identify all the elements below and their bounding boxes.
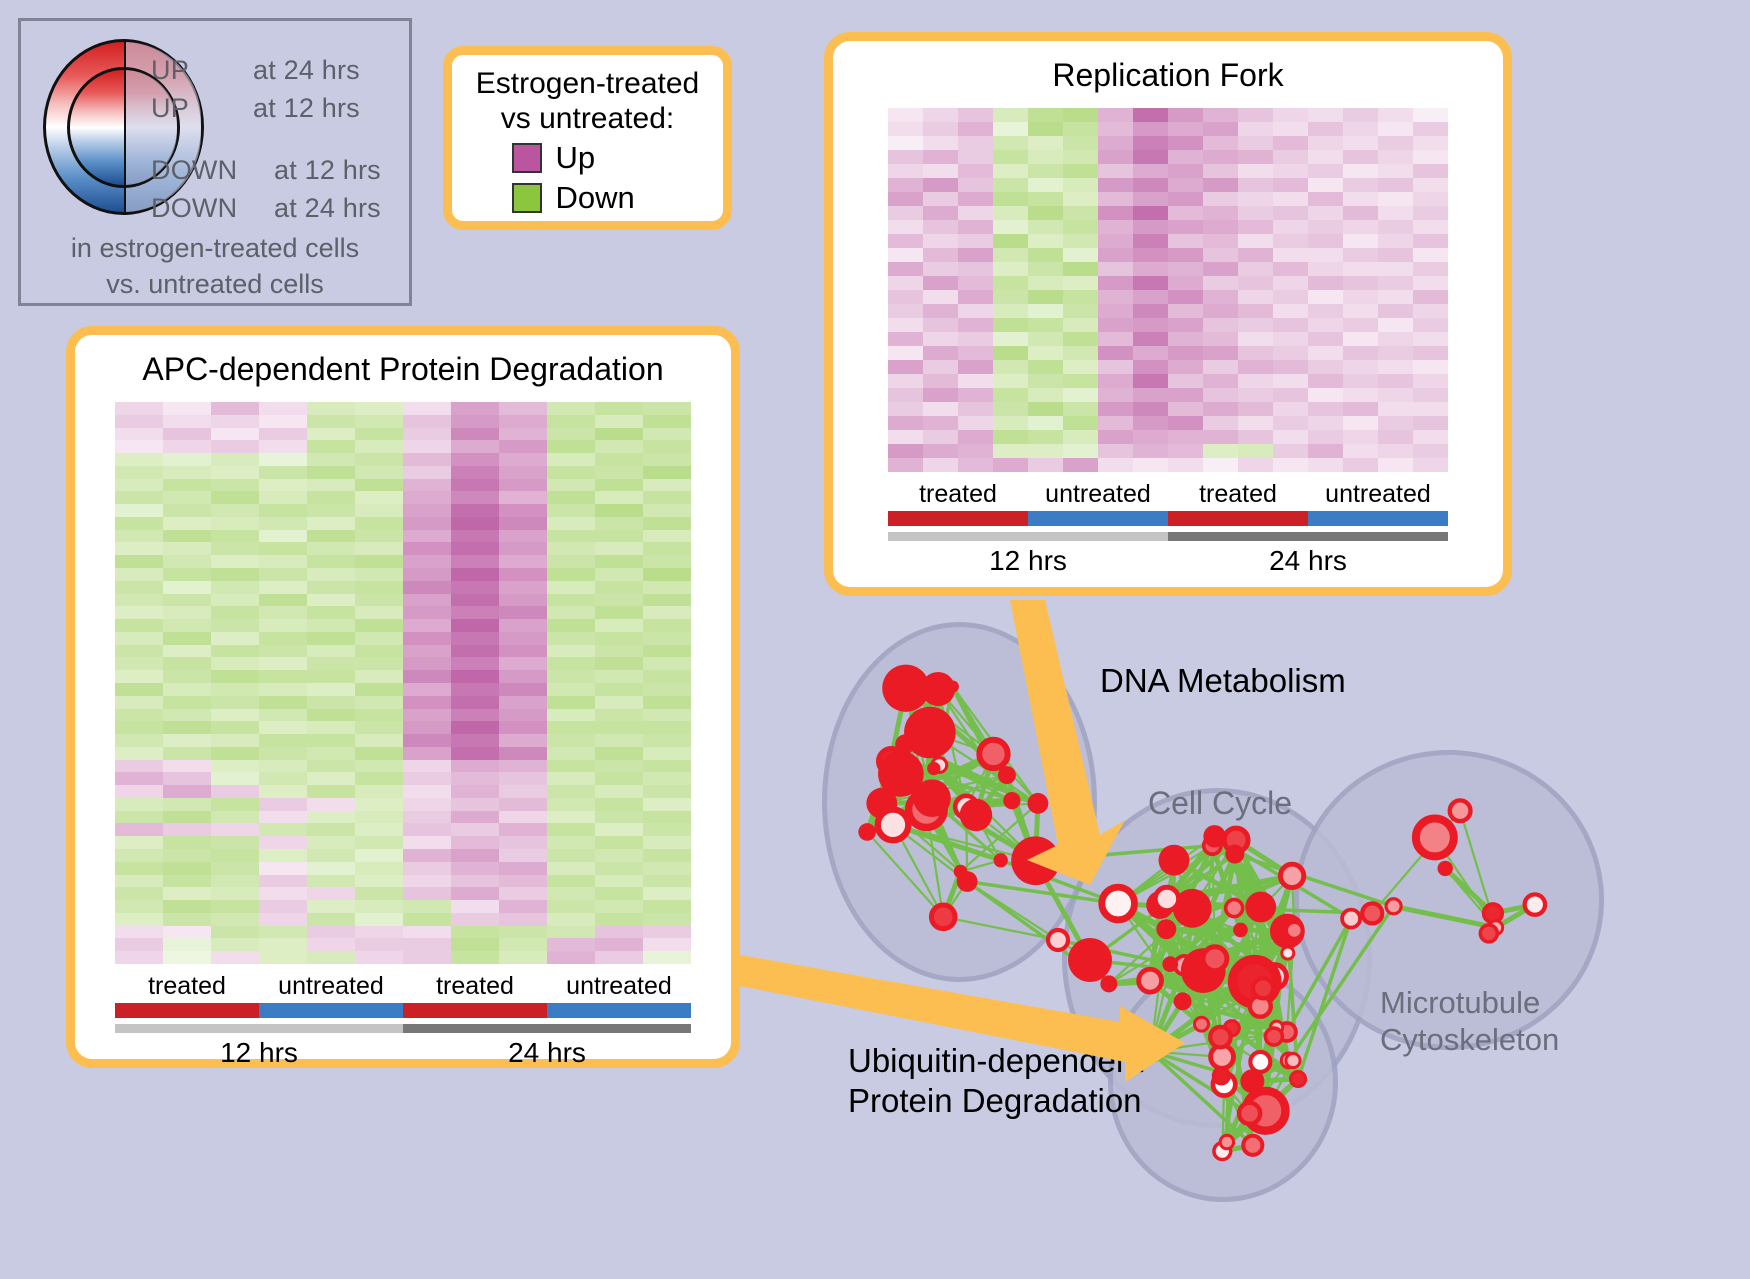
heatmap-cell [403, 594, 451, 607]
heatmap-cell [451, 517, 499, 530]
time-bar-segment [115, 1024, 403, 1033]
time-labels-replication-fork: 12 hrs24 hrs [888, 541, 1448, 577]
heatmap-cell [1133, 220, 1168, 234]
heatmap-cell [888, 332, 923, 346]
network-node[interactable] [954, 865, 968, 879]
heatmap-cell [307, 402, 355, 415]
heatmap-cell [547, 670, 595, 683]
heatmap-cell [163, 709, 211, 722]
heatmap-cell [1273, 318, 1308, 332]
heatmap-cell [307, 491, 355, 504]
network-node[interactable] [1162, 956, 1178, 972]
heatmap-cell [355, 875, 403, 888]
heatmap-cell [355, 619, 403, 632]
heatmap-cell [958, 276, 993, 290]
heatmap-cell [163, 926, 211, 939]
heatmap-cell [403, 555, 451, 568]
heatmap-cell [115, 772, 163, 785]
heatmap-cell [993, 248, 1028, 262]
heatmap-cell [888, 248, 923, 262]
heatmap-cell [547, 415, 595, 428]
heatmap-cell [547, 798, 595, 811]
heatmap-cell [1273, 458, 1308, 472]
network-node[interactable] [1282, 947, 1294, 959]
network-node[interactable] [1437, 861, 1452, 876]
network-node[interactable] [1362, 903, 1382, 923]
heatmap-cell [1413, 248, 1448, 262]
network-graph-svg [790, 600, 1750, 1279]
heatmap-cell [115, 581, 163, 594]
heatmap-cell [307, 938, 355, 951]
network-node[interactable] [1416, 818, 1454, 856]
heatmap-cell [1063, 248, 1098, 262]
heatmap-cell [1308, 276, 1343, 290]
heatmap-cell [1308, 430, 1343, 444]
heatmap-cell [958, 234, 993, 248]
heatmap-cell [1028, 234, 1063, 248]
heatmap-cell [595, 926, 643, 939]
heatmap-cell [1378, 318, 1413, 332]
heatmap-cell [451, 632, 499, 645]
network-node[interactable] [1243, 1136, 1262, 1155]
heatmap-cell [888, 374, 923, 388]
heatmap-cell [1063, 178, 1098, 192]
network-node[interactable] [1213, 1068, 1229, 1084]
heatmap-cell [451, 606, 499, 619]
heatmap-cell [451, 785, 499, 798]
heatmap-cell [259, 415, 307, 428]
heatmap-cell [403, 619, 451, 632]
heatmap-cell [403, 913, 451, 926]
network-node[interactable] [1139, 969, 1162, 992]
treatment-bar-segment [403, 1003, 547, 1018]
heatmap-cell [403, 887, 451, 900]
heatmap-cell [259, 581, 307, 594]
heatmap-cell [547, 555, 595, 568]
heatmap-cell [1238, 318, 1273, 332]
heatmap-cell [403, 428, 451, 441]
heatmap-cell [1273, 416, 1308, 430]
network-node[interactable] [895, 734, 915, 754]
heatmap-cell [923, 458, 958, 472]
time-labels-apc: 12 hrs24 hrs [115, 1033, 691, 1069]
heatmap-cell [1063, 304, 1098, 318]
heatmap-cell [355, 760, 403, 773]
heatmap-cell [547, 696, 595, 709]
heatmap-cell [211, 530, 259, 543]
heatmap-cell [451, 440, 499, 453]
heatmap-cell [499, 760, 547, 773]
column-group-label: treated [403, 972, 547, 1001]
heatmap-cell [211, 619, 259, 632]
network-node[interactable] [1048, 930, 1068, 950]
heatmap-cell [1238, 150, 1273, 164]
heatmap-cell [1168, 360, 1203, 374]
heatmap-cell [499, 875, 547, 888]
heatmap-cell [923, 150, 958, 164]
network-node[interactable] [1450, 800, 1471, 821]
heatmap-cell [1098, 136, 1133, 150]
heatmap-cell [1413, 164, 1448, 178]
network-node[interactable] [1291, 1072, 1306, 1087]
heatmap-cell [1378, 388, 1413, 402]
heatmap-cell [1308, 458, 1343, 472]
heatmap-cell [1063, 388, 1098, 402]
heatmap-cell [643, 760, 691, 773]
heatmap-cell [643, 772, 691, 785]
network-node[interactable] [1250, 1052, 1270, 1072]
network-node[interactable] [1280, 864, 1303, 887]
heatmap-cell [1028, 304, 1063, 318]
heatmap-cell [403, 568, 451, 581]
network-node[interactable] [1100, 975, 1117, 992]
heatmap-cell [595, 721, 643, 734]
heatmap-cell [958, 220, 993, 234]
heatmap-cell [163, 747, 211, 760]
heatmap-cell [499, 811, 547, 824]
heatmap-cell [259, 594, 307, 607]
heatmap-cell [1343, 164, 1378, 178]
network-node[interactable] [1484, 904, 1502, 922]
heatmap-cell [211, 913, 259, 926]
heatmap-cell [211, 632, 259, 645]
heatmap-cell [643, 785, 691, 798]
network-node[interactable] [1174, 992, 1192, 1010]
heatmap-cell [211, 683, 259, 696]
heatmap-cell [307, 709, 355, 722]
panel-apc-degradation: APC-dependent Protein Degradation treate… [66, 326, 740, 1068]
heatmap-cell [993, 402, 1028, 416]
heatmap-cell [1028, 388, 1063, 402]
heatmap-cell [958, 318, 993, 332]
heatmap-cell [259, 760, 307, 773]
heatmap-cell [211, 900, 259, 913]
heatmap-cell [1413, 416, 1448, 430]
heatmap-cell [595, 555, 643, 568]
heatmap-cell [259, 747, 307, 760]
heatmap-cell [451, 530, 499, 543]
network-node[interactable] [1233, 923, 1248, 938]
heatmap-cell [888, 360, 923, 374]
heatmap-cell [595, 849, 643, 862]
heatmap-cell [499, 926, 547, 939]
heatmap-cell [595, 836, 643, 849]
network-node[interactable] [1102, 887, 1135, 920]
heatmap-cell [1203, 220, 1238, 234]
heatmap-cell [355, 734, 403, 747]
heatmap-cell [1378, 108, 1413, 122]
network-node[interactable] [921, 672, 955, 706]
heatmap-cell [451, 823, 499, 836]
heatmap-cell [355, 696, 403, 709]
heatmap-cell [1413, 346, 1448, 360]
heatmap-cell [643, 696, 691, 709]
heatmap-cell [643, 530, 691, 543]
heatmap-cell [1063, 290, 1098, 304]
heatmap-cell [643, 428, 691, 441]
heatmap-cell [403, 747, 451, 760]
network-node[interactable] [1286, 1054, 1300, 1068]
heatmap-cell [259, 836, 307, 849]
heatmap-cell [1238, 430, 1273, 444]
column-group-label: untreated [547, 972, 691, 1001]
heatmap-cell [923, 346, 958, 360]
heatmap-cell [1168, 402, 1203, 416]
heatmap-cell [163, 760, 211, 773]
heatmap-cell [163, 951, 211, 964]
heatmap-cell [1203, 444, 1238, 458]
heatmap-cell [163, 440, 211, 453]
network-node[interactable] [1265, 1028, 1282, 1045]
heatmap-cell [547, 772, 595, 785]
network-node[interactable] [1480, 925, 1497, 942]
heatmap-cell [1343, 318, 1378, 332]
heatmap-cell [211, 606, 259, 619]
heatmap-cell [1238, 164, 1273, 178]
heatmap-cell [1028, 346, 1063, 360]
heatmap-cell [355, 594, 403, 607]
network-node[interactable] [1220, 1135, 1233, 1148]
network-node[interactable] [1239, 1103, 1260, 1124]
heatmap-cell [1413, 444, 1448, 458]
heatmap-cell [1378, 122, 1413, 136]
heatmap-cell [595, 415, 643, 428]
heatmap-cell [355, 887, 403, 900]
heatmap-cell [451, 862, 499, 875]
time-label: 24 hrs [403, 1033, 691, 1069]
heatmap-cell [1203, 122, 1238, 136]
heatmap-cell [1203, 234, 1238, 248]
heatmap-cell [403, 491, 451, 504]
heatmap-cell [307, 696, 355, 709]
heatmap-cell [451, 836, 499, 849]
heatmap-cell [499, 798, 547, 811]
heatmap-cell [643, 938, 691, 951]
network-node[interactable] [1210, 1027, 1230, 1047]
heatmap-cell [259, 491, 307, 504]
heatmap-cell [115, 517, 163, 530]
heatmap-cell [1063, 206, 1098, 220]
heatmap-cell [643, 900, 691, 913]
panel-replication-fork: Replication Fork treateduntreatedtreated… [824, 32, 1512, 596]
heatmap-cell [1378, 248, 1413, 262]
network-node[interactable] [1226, 900, 1243, 917]
heatmap-cell [1168, 304, 1203, 318]
heatmap-cell [355, 453, 403, 466]
heatmap-cell [307, 619, 355, 632]
heatmap-cell [923, 374, 958, 388]
heatmap-cell [1133, 234, 1168, 248]
heatmap-cell [958, 304, 993, 318]
heatmap-cell [355, 402, 403, 415]
heatmap-cell [1098, 360, 1133, 374]
network-node[interactable] [1253, 978, 1273, 998]
heatmap-cell [595, 875, 643, 888]
heatmap-cell [1238, 276, 1273, 290]
network-node[interactable] [960, 799, 993, 832]
heatmap-cell [211, 734, 259, 747]
heatmap-cell [993, 164, 1028, 178]
heatmap-cell [1098, 276, 1133, 290]
heatmap-cell [115, 734, 163, 747]
heatmap-cell [499, 747, 547, 760]
network-node[interactable] [1141, 1042, 1160, 1061]
heatmap-cell [595, 619, 643, 632]
heatmap-cell [1343, 416, 1378, 430]
heatmap-cell [1133, 430, 1168, 444]
heatmap-cell [993, 122, 1028, 136]
heatmap-cell [259, 517, 307, 530]
network-node[interactable] [1245, 892, 1276, 923]
heatmap-cell [451, 798, 499, 811]
heatmap-cell [211, 504, 259, 517]
heatmap-cell [643, 747, 691, 760]
network-node[interactable] [1225, 845, 1244, 864]
heatmap-cell [259, 849, 307, 862]
network-node[interactable] [1156, 919, 1176, 939]
heatmap-cell [888, 416, 923, 430]
heatmap-cell [643, 581, 691, 594]
network-node[interactable] [1525, 894, 1545, 914]
heatmap-cell [451, 466, 499, 479]
heatmap-cell [1343, 388, 1378, 402]
heatmap-cell [307, 760, 355, 773]
heatmap-cell [355, 951, 403, 964]
heatmap-cell [595, 504, 643, 517]
heatmap-cell [993, 108, 1028, 122]
heatmap-cell [499, 900, 547, 913]
heatmap-cell [1238, 178, 1273, 192]
heatmap-cell [259, 875, 307, 888]
heatmap-cell [1273, 206, 1308, 220]
network-node[interactable] [1195, 1017, 1209, 1031]
heatmap-cell [115, 798, 163, 811]
legend-item-up: Up [452, 140, 723, 176]
heatmap-cell [1343, 374, 1378, 388]
heatmap-cell [451, 951, 499, 964]
network-node[interactable] [1027, 793, 1048, 814]
network-node[interactable] [858, 823, 876, 841]
heatmap-cell [403, 581, 451, 594]
network-node[interactable] [1203, 825, 1225, 847]
heatmap-cell [451, 657, 499, 670]
heatmap-cell [211, 491, 259, 504]
network-node[interactable] [878, 810, 909, 841]
heatmap-cell [595, 453, 643, 466]
heatmap-cell [993, 318, 1028, 332]
heatmap-cell [451, 491, 499, 504]
heatmap-cell [1063, 122, 1098, 136]
heatmap-cell [595, 440, 643, 453]
treatment-bar-segment [1168, 511, 1308, 526]
heatmap-cell [1308, 164, 1343, 178]
heatmap-cell [259, 785, 307, 798]
heatmap-cell [499, 849, 547, 862]
heatmap-cell [499, 542, 547, 555]
heatmap-cell [643, 657, 691, 670]
heatmap-cell [1308, 220, 1343, 234]
heatmap-cell [211, 645, 259, 658]
heatmap-cell [1168, 164, 1203, 178]
heatmap-cell [1378, 178, 1413, 192]
network-node[interactable] [913, 779, 951, 817]
heatmap-cell [1273, 234, 1308, 248]
heatmap-cell [403, 683, 451, 696]
network-node[interactable] [1003, 792, 1020, 809]
heatmap-cell [1378, 164, 1413, 178]
heatmap-cell [307, 926, 355, 939]
heatmap-cell [307, 683, 355, 696]
heatmap-cell [451, 453, 499, 466]
network-node[interactable] [1386, 899, 1401, 914]
heatmap-cell [993, 346, 1028, 360]
network-node[interactable] [927, 762, 940, 775]
heatmap-cell [1133, 136, 1168, 150]
heatmap-cell [643, 670, 691, 683]
network-node[interactable] [1342, 910, 1360, 928]
heatmap-cell [1028, 374, 1063, 388]
treatment-bar-segment [547, 1003, 691, 1018]
heatmap-cell [1028, 150, 1063, 164]
heatmap-cell [1203, 248, 1238, 262]
network-node[interactable] [994, 853, 1008, 867]
network-node[interactable] [1068, 938, 1112, 982]
network-node[interactable] [931, 905, 955, 929]
heatmap-cell [307, 951, 355, 964]
network-node[interactable] [1203, 947, 1227, 971]
heatmap-cell [958, 416, 993, 430]
legend-item-down: Down [452, 180, 723, 216]
heatmap-cell [1273, 220, 1308, 234]
heatmap-cell [211, 721, 259, 734]
heatmap-cell [355, 555, 403, 568]
network-node[interactable] [979, 740, 1007, 768]
network-node[interactable] [1155, 887, 1178, 910]
heatmap-cell [958, 122, 993, 136]
network-node[interactable] [1011, 836, 1060, 885]
heatmap-cell [1133, 206, 1168, 220]
heatmap-cell [163, 619, 211, 632]
heatmap-cell [547, 479, 595, 492]
heatmap-cell [595, 785, 643, 798]
heatmap-cell [595, 862, 643, 875]
heatmap-cell [1343, 444, 1378, 458]
heatmap-cell [923, 206, 958, 220]
heatmap-cell [1028, 458, 1063, 472]
heatmap-cell [115, 645, 163, 658]
heatmap-cell [1098, 346, 1133, 360]
heatmap-cell [643, 836, 691, 849]
heatmap-cell [115, 836, 163, 849]
heatmap-cell [1378, 234, 1413, 248]
heatmap-cell [211, 440, 259, 453]
updown-title-line1: Estrogen-treated [452, 55, 723, 102]
heatmap-cell [547, 568, 595, 581]
heatmap-cell [1308, 122, 1343, 136]
heatmap-cell [1273, 164, 1308, 178]
heatmap-cell [1238, 458, 1273, 472]
network-node[interactable] [1286, 922, 1302, 938]
network-node[interactable] [1159, 845, 1190, 876]
heatmap-cell [259, 402, 307, 415]
heatmap-cell [1343, 402, 1378, 416]
heatmap-cell [1168, 122, 1203, 136]
heatmap-cell [1238, 402, 1273, 416]
heatmap-cell [355, 900, 403, 913]
heatmap-cell [643, 504, 691, 517]
heatmap-cell [451, 734, 499, 747]
heatmap-cell [643, 887, 691, 900]
